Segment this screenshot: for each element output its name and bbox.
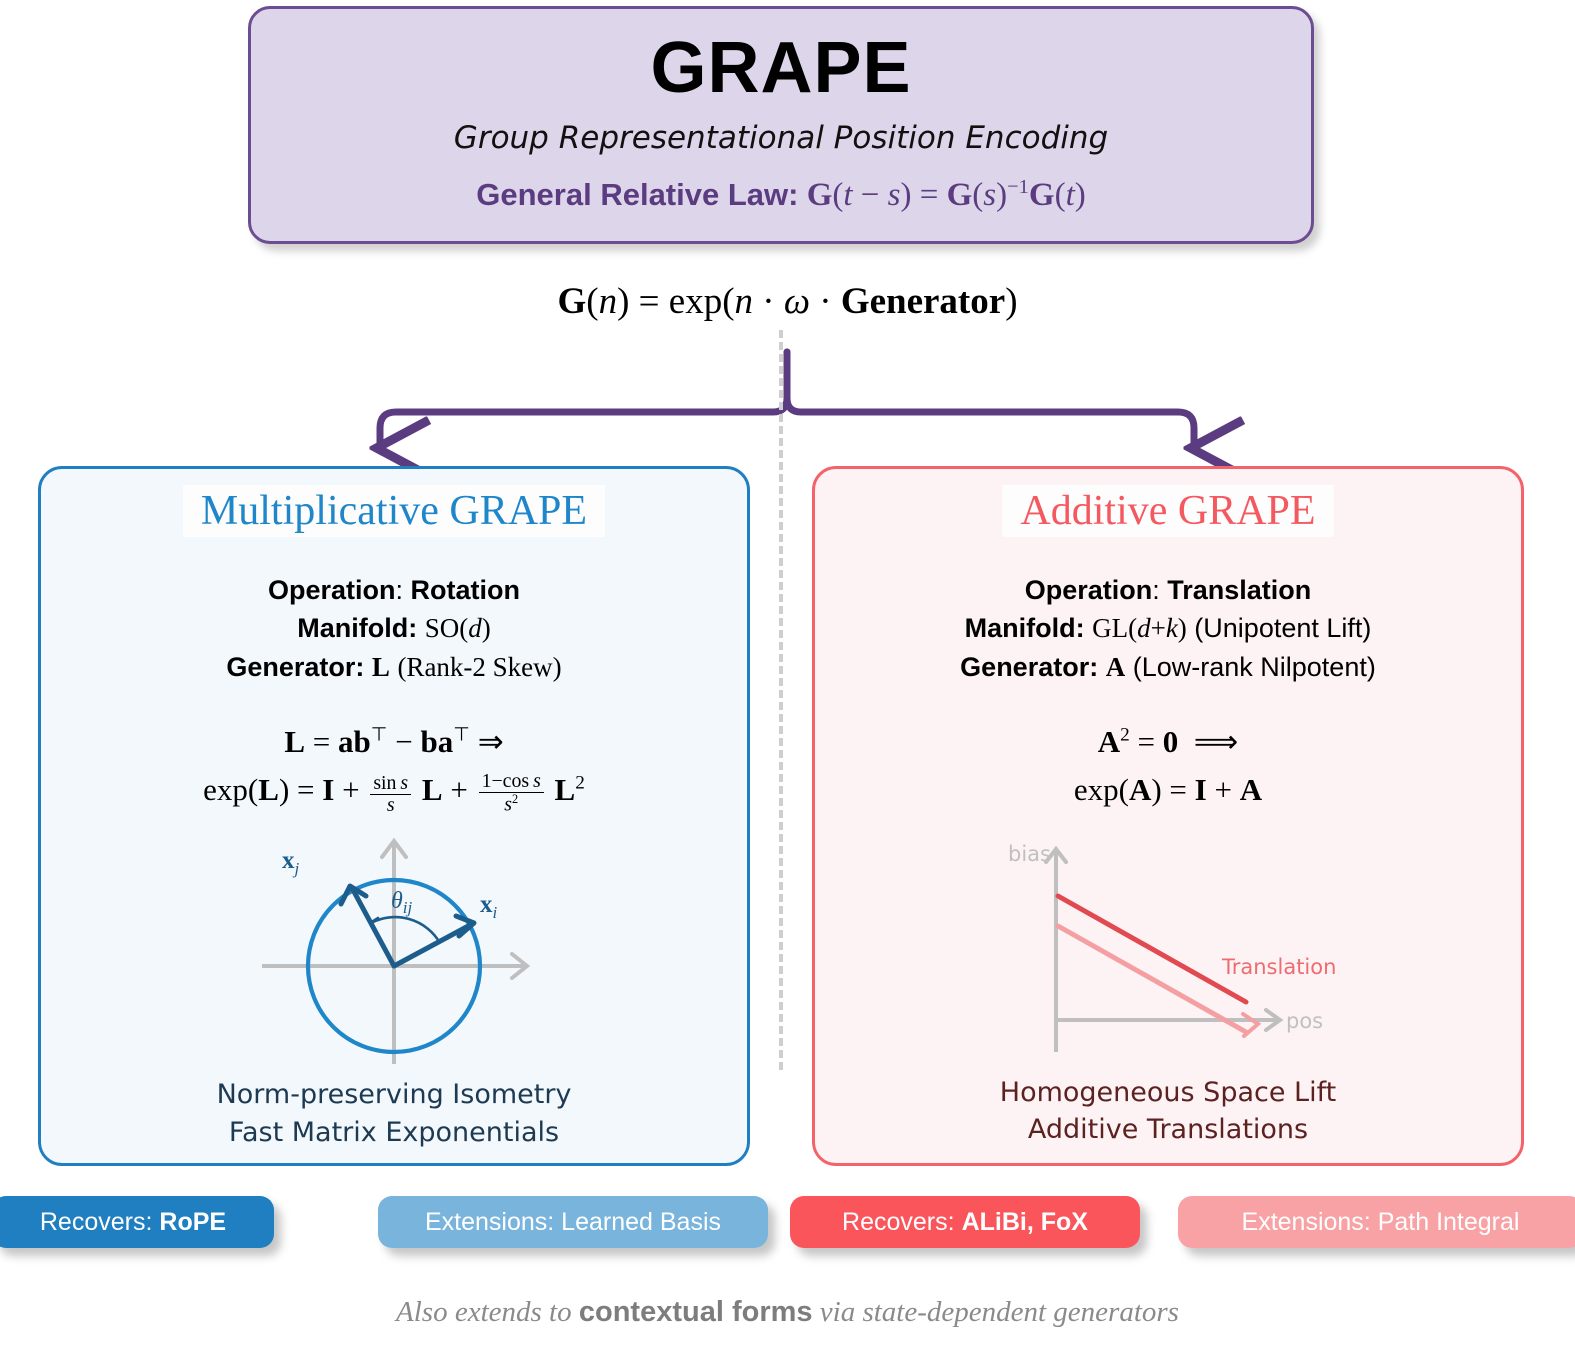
spec-list-right: Operation: Translation Manifold: GL(d+k)… xyxy=(815,571,1521,686)
badge-3-label: Recovers: xyxy=(842,1208,955,1237)
badge-3-value: ALiBi, FoX xyxy=(962,1208,1088,1237)
badge-2-label: Extensions: Learned Basis xyxy=(425,1208,721,1237)
translation-figure-wrap: bias pos Translation xyxy=(815,824,1521,1074)
formula-left: L = ab⊤ − ba⊤ ⇒ exp(L) = I + sin ss L + … xyxy=(41,718,747,816)
additive-grape-panel: Additive GRAPE Operation: Translation Ma… xyxy=(812,466,1524,1166)
series-translation xyxy=(1058,896,1246,1002)
panel-footer-right-line2: Additive Translations xyxy=(815,1111,1521,1148)
spec-row-operation: Operation: Rotation xyxy=(41,571,747,609)
page-subtitle: Group Representational Position Encoding xyxy=(454,120,1108,156)
footnote: Also extends to contextual forms via sta… xyxy=(0,1296,1575,1329)
vector-xi xyxy=(394,924,472,966)
multiplicative-grape-panel: Multiplicative GRAPE Operation: Rotation… xyxy=(38,466,750,1166)
page-title: GRAPE xyxy=(650,32,911,104)
footnote-bold: contextual forms xyxy=(579,1296,813,1328)
branch-connector xyxy=(0,330,1575,480)
alibi-bias-chart: bias pos Translation xyxy=(978,824,1358,1059)
chart-annotation-translation: Translation xyxy=(1221,955,1336,979)
general-relative-law: General Relative Law: G(t − s) = G(s)−1G… xyxy=(476,176,1085,214)
panel-title-multiplicative: Multiplicative GRAPE xyxy=(41,485,747,537)
formula-right-line1: A2 = 0 ⟹ xyxy=(815,718,1521,766)
formula-right-line2: exp(A) = I + A xyxy=(815,766,1521,814)
series-translation-shifted xyxy=(1058,926,1246,1032)
spec-row-manifold: Manifold: SO(d) xyxy=(41,609,747,647)
footnote-part1: Also extends to xyxy=(396,1296,579,1328)
badge-recovers-rope[interactable]: Recovers: RoPE xyxy=(0,1196,274,1248)
chart-ylabel: bias xyxy=(1008,842,1051,866)
spec-row-operation-right: Operation: Translation xyxy=(815,571,1521,609)
law-label: General Relative Law: xyxy=(476,177,798,212)
chart-xlabel: pos xyxy=(1286,1009,1323,1033)
spec-row-manifold-right: Manifold: GL(d+k) (Unipotent Lift) xyxy=(815,609,1521,647)
panel-footer-right: Homogeneous Space Lift Additive Translat… xyxy=(815,1074,1521,1149)
panel-footer-right-line1: Homogeneous Space Lift xyxy=(815,1074,1521,1111)
diagram-canvas: GRAPE Group Representational Position En… xyxy=(0,0,1575,1346)
grape-header-box: GRAPE Group Representational Position En… xyxy=(248,6,1314,244)
spec-row-generator-right: Generator: A (Low-rank Nilpotent) xyxy=(815,648,1521,686)
panel-footer-left: Norm-preserving Isometry Fast Matrix Exp… xyxy=(41,1076,747,1151)
panel-divider xyxy=(779,330,783,1070)
label-theta: θij xyxy=(391,888,413,917)
rotation-circle-diagram: xi xj θij xyxy=(244,826,544,1066)
series-shifted-arrowhead xyxy=(1243,1014,1258,1036)
spec-list-left: Operation: Rotation Manifold: SO(d) Gene… xyxy=(41,571,747,686)
badge-extensions-learned-basis[interactable]: Extensions: Learned Basis xyxy=(378,1196,768,1248)
formula-left-line2: exp(L) = I + sin ss L + 1−cos ss2 L2 xyxy=(41,766,747,816)
panel-title-additive: Additive GRAPE xyxy=(815,485,1521,537)
badge-recovers-alibi-fox[interactable]: Recovers: ALiBi, FoX xyxy=(790,1196,1140,1248)
badge-4-label: Extensions: Path Integral xyxy=(1242,1208,1520,1237)
badge-extensions-path-integral[interactable]: Extensions: Path Integral xyxy=(1178,1196,1575,1248)
formula-right: A2 = 0 ⟹ exp(A) = I + A xyxy=(815,718,1521,814)
panel-footer-left-line2: Fast Matrix Exponentials xyxy=(41,1114,747,1151)
generator-equation: G(n) = exp(n · ω · Generator) xyxy=(0,280,1575,323)
badge-1-value: RoPE xyxy=(159,1208,226,1237)
spec-row-generator: Generator: L (Rank-2 Skew) xyxy=(41,648,747,686)
label-xi: xi xyxy=(480,891,498,922)
formula-left-line1: L = ab⊤ − ba⊤ ⇒ xyxy=(41,718,747,766)
rotation-figure-wrap: xi xj θij xyxy=(41,826,747,1076)
label-xj: xj xyxy=(282,847,300,878)
badge-1-label: Recovers: xyxy=(40,1208,153,1237)
panel-footer-left-line1: Norm-preserving Isometry xyxy=(41,1076,747,1113)
footnote-part2: via state-dependent generators xyxy=(813,1296,1179,1328)
law-formula: G(t − s) = G(s)−1G(t) xyxy=(807,177,1086,213)
